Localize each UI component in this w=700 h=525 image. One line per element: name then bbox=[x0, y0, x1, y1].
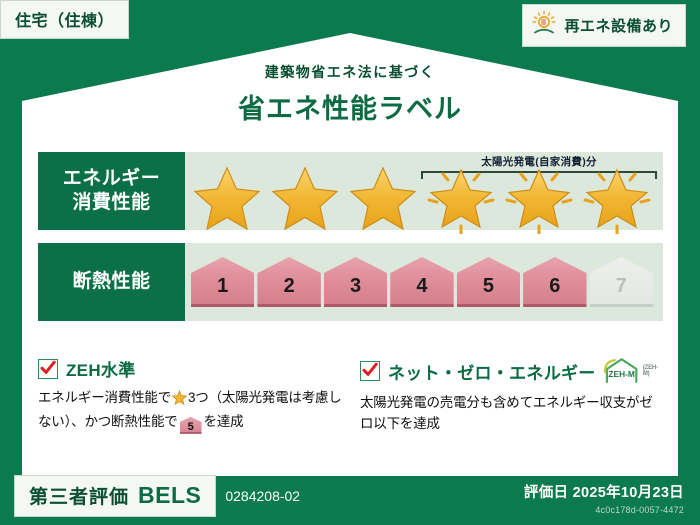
footer-right: 評価日 2025年10月23日 4c0c178d-0057-4472 bbox=[524, 481, 684, 515]
energy-performance-body: 太陽光発電(自家消費)分 bbox=[185, 152, 663, 230]
certificate-code: 4c0c178d-0057-4472 bbox=[524, 505, 684, 515]
criterion-net-zero-energy: ネット・ゼロ・エネルギー ZEH-M (ZEH-M) 太陽光発電の売電分も含めて… bbox=[360, 356, 664, 435]
insulation-level-badge: 3 bbox=[324, 257, 387, 307]
renewable-energy-badge: 再エネ設備あり bbox=[522, 4, 686, 47]
criterion-description: エネルギー消費性能で3つ（太陽光発電は考慮しない）、かつ断熱性能で5を達成 bbox=[38, 388, 342, 434]
bels-number: 0284208-02 bbox=[225, 488, 300, 504]
rating-rows: エネルギー 消費性能 太陽光発電(自家消費)分 bbox=[38, 152, 663, 334]
zeh-m-house-icon: ZEH-M (ZEH-M) bbox=[602, 356, 664, 386]
solar-star-icon bbox=[423, 160, 499, 234]
star-icon bbox=[189, 160, 265, 234]
zeh-m-logo-subtext: (ZEH-M) bbox=[643, 365, 664, 377]
sun-icon bbox=[531, 10, 557, 41]
insulation-level-badge: 2 bbox=[257, 257, 320, 307]
insulation-level-scale: 1 2 3 4 5 6 7 bbox=[191, 257, 653, 307]
criterion-header: ネット・ゼロ・エネルギー ZEH-M (ZEH-M) bbox=[360, 356, 664, 386]
star-rating bbox=[189, 160, 655, 234]
third-party-label: 第三者評価 bbox=[29, 482, 129, 509]
building-type-tag: 住宅（住棟） bbox=[0, 0, 129, 39]
star-icon bbox=[345, 160, 421, 234]
checkbox-checked-icon bbox=[360, 361, 380, 381]
checkbox-checked-icon bbox=[38, 359, 58, 379]
energy-performance-label: エネルギー 消費性能 bbox=[38, 152, 185, 230]
insulation-label-line1: 断熱性能 bbox=[72, 270, 150, 294]
evaluation-date-label: 評価日 bbox=[524, 485, 568, 501]
evaluation-date: 評価日 2025年10月23日 bbox=[524, 481, 684, 502]
criterion-description: 太陽光発電の売電分も含めてエネルギー収支がゼロ以下を達成 bbox=[360, 393, 664, 435]
desc-part-3: を達成 bbox=[204, 414, 244, 429]
desc-part-1: エネルギー消費性能で bbox=[38, 390, 171, 405]
criteria-section: ZEH水準 エネルギー消費性能で3つ（太陽光発電は考慮しない）、かつ断熱性能で5… bbox=[38, 356, 664, 435]
energy-performance-row: エネルギー 消費性能 太陽光発電(自家消費)分 bbox=[38, 152, 663, 230]
inline-insulation-badge: 5 bbox=[180, 417, 202, 434]
criterion-title: ZEH水準 bbox=[66, 356, 136, 381]
insulation-performance-row: 断熱性能 1 2 3 4 5 6 7 bbox=[38, 243, 663, 321]
energy-label-line1: エネルギー bbox=[63, 167, 161, 191]
criterion-header: ZEH水準 bbox=[38, 356, 342, 381]
insulation-performance-label: 断熱性能 bbox=[38, 243, 185, 321]
bels-evaluation-box: 第三者評価 BELS bbox=[14, 475, 216, 517]
energy-performance-label: 住宅（住棟） 再エネ設備あり 建築物省エネ法に基づく bbox=[0, 0, 700, 525]
renewable-badge-label: 再エネ設備あり bbox=[564, 15, 673, 36]
insulation-level-badge: 1 bbox=[191, 257, 254, 307]
insulation-level-badge: 7 bbox=[590, 257, 653, 307]
criterion-zeh-standard: ZEH水準 エネルギー消費性能で3つ（太陽光発電は考慮しない）、かつ断熱性能で5… bbox=[38, 356, 342, 435]
evaluation-date-value: 2025年10月23日 bbox=[573, 485, 684, 501]
insulation-level-badge: 5 bbox=[457, 257, 520, 307]
insulation-level-badge: 4 bbox=[390, 257, 453, 307]
svg-text:ZEH-M: ZEH-M bbox=[608, 369, 634, 379]
energy-label-line2: 消費性能 bbox=[72, 191, 150, 215]
solar-star-icon bbox=[579, 160, 655, 234]
inline-star-icon bbox=[172, 390, 187, 412]
title-block: 建築物省エネ法に基づく 省エネ性能ラベル bbox=[0, 62, 700, 126]
title-subtitle: 建築物省エネ法に基づく bbox=[0, 62, 700, 82]
criterion-title: ネット・ゼロ・エネルギー bbox=[388, 359, 596, 384]
insulation-performance-body: 1 2 3 4 5 6 7 bbox=[185, 243, 663, 321]
solar-star-icon bbox=[501, 160, 577, 234]
insulation-level-badge: 6 bbox=[523, 257, 586, 307]
bels-logo-text: BELS bbox=[138, 482, 201, 509]
title-main: 省エネ性能ラベル bbox=[0, 87, 700, 126]
star-icon bbox=[267, 160, 343, 234]
footer-left: 第三者評価 BELS 0284208-02 bbox=[14, 475, 300, 517]
